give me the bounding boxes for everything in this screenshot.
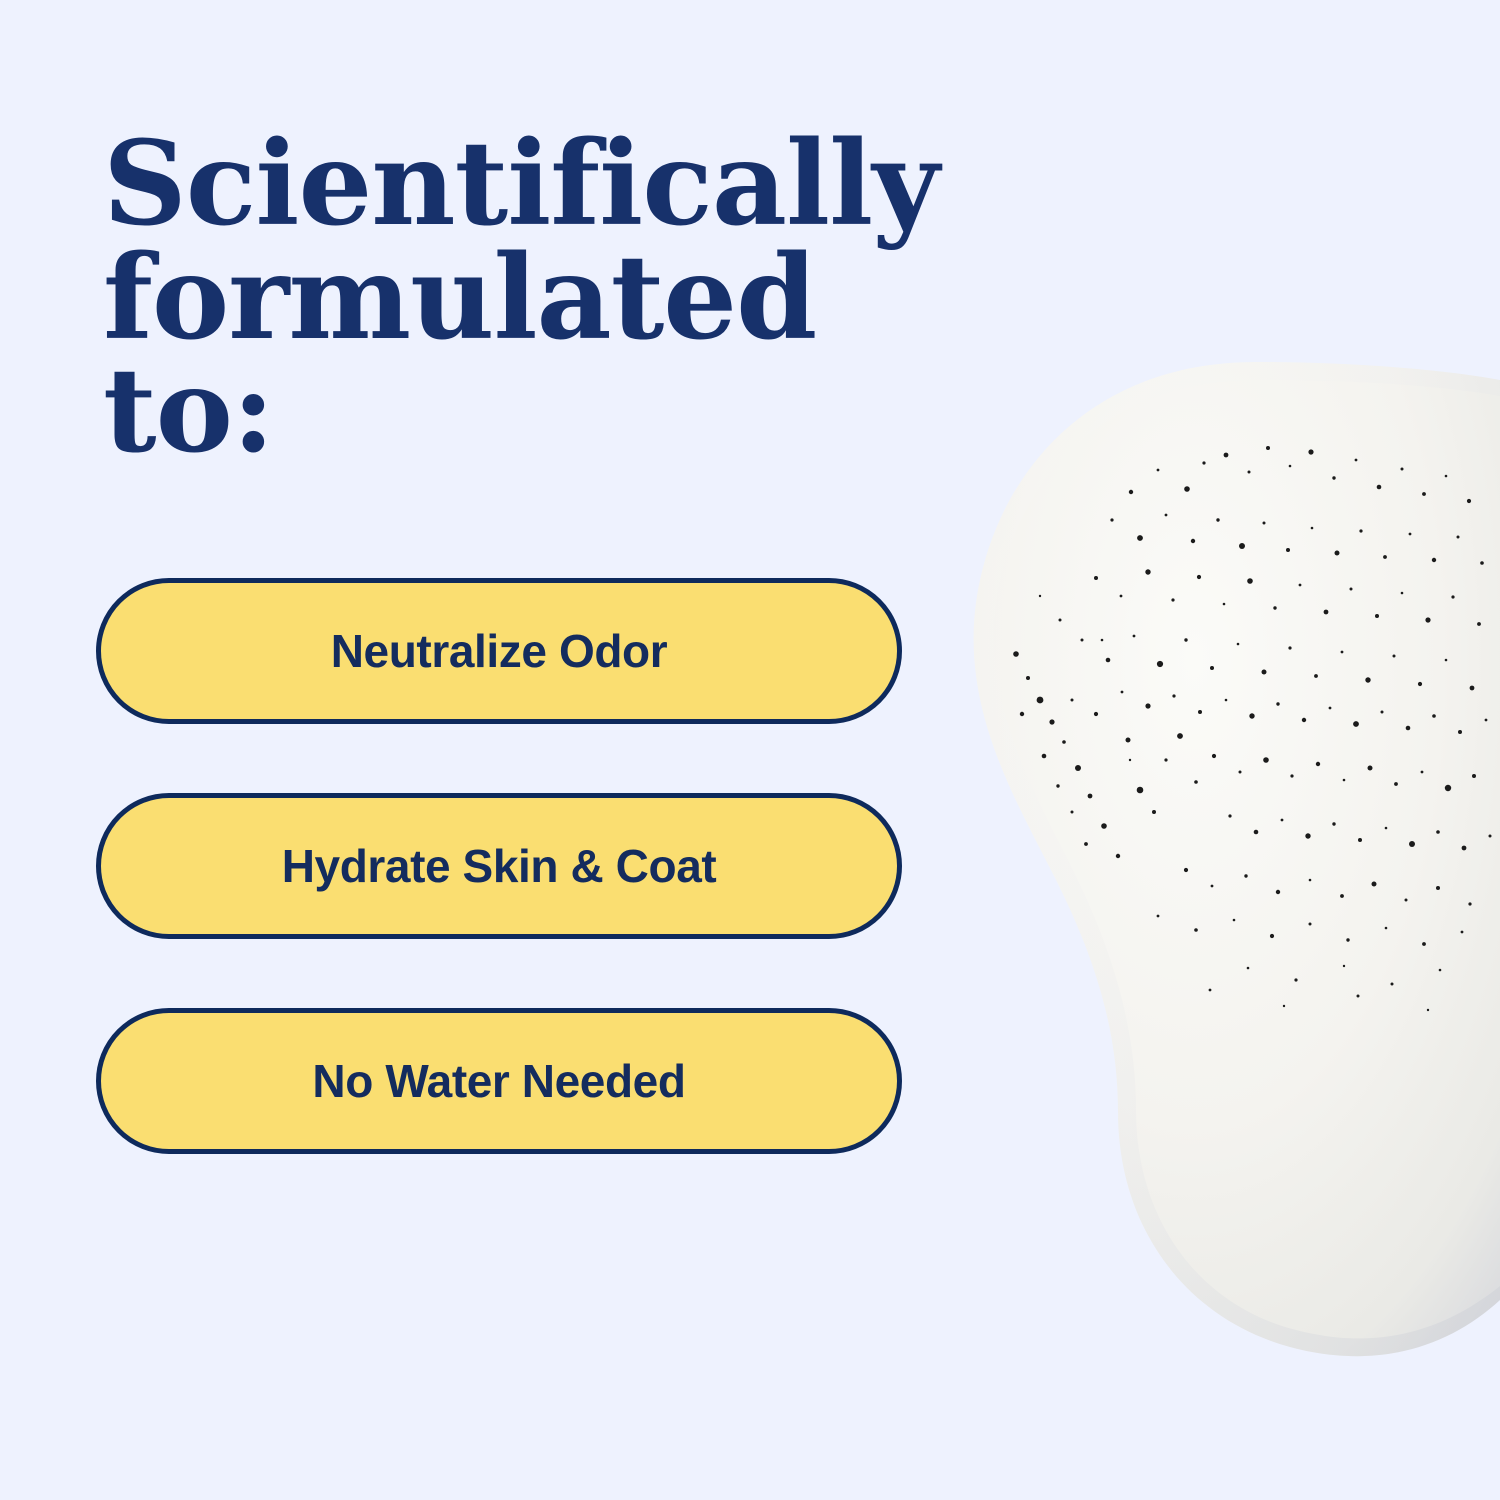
benefit-pill-label: Neutralize Odor — [331, 624, 668, 678]
charcoal-specks — [1013, 446, 1491, 1011]
benefit-pill-neutralize-odor[interactable]: Neutralize Odor — [96, 578, 902, 724]
benefit-pill-stack: Neutralize Odor Hydrate Skin & Coat No W… — [96, 578, 902, 1154]
promo-canvas: Scientifically formulated to: Neutralize… — [0, 0, 1500, 1500]
blob-body — [974, 362, 1500, 1356]
benefit-pill-label: Hydrate Skin & Coat — [282, 839, 717, 893]
benefit-pill-label: No Water Needed — [312, 1054, 685, 1108]
page-headline: Scientifically formulated to: — [103, 128, 1003, 469]
benefit-pill-no-water-needed[interactable]: No Water Needed — [96, 1008, 902, 1154]
benefit-pill-hydrate-skin-coat[interactable]: Hydrate Skin & Coat — [96, 793, 902, 939]
